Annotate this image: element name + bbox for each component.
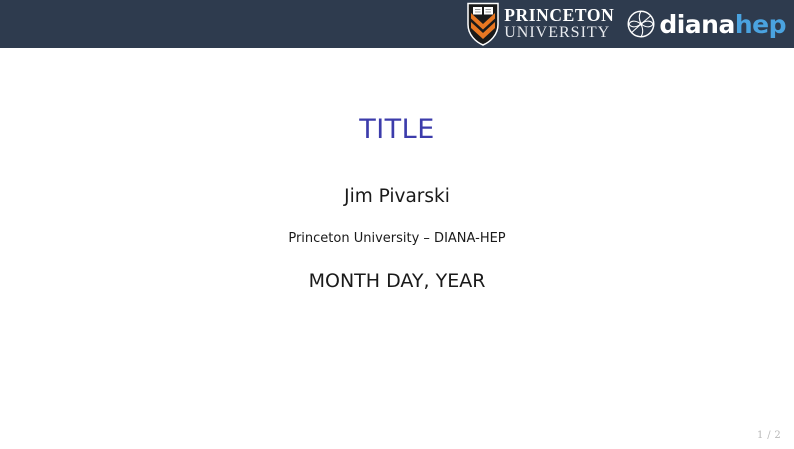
page-title: TITLE bbox=[0, 115, 794, 145]
slide-header-bar: PRINCETON UNIVERSITY bbox=[0, 0, 794, 48]
dianahep-word-hep: hep bbox=[735, 12, 786, 37]
presentation-slide: PRINCETON UNIVERSITY bbox=[0, 0, 794, 449]
author-name: Jim Pivarski bbox=[0, 187, 794, 207]
princeton-wordmark-line2: UNIVERSITY bbox=[504, 25, 614, 41]
presentation-date: MONTH DAY, YEAR bbox=[0, 271, 794, 292]
dianahep-word-diana: diana bbox=[659, 12, 735, 37]
book-glyph bbox=[473, 7, 493, 15]
slide-title-block: TITLE Jim Pivarski Princeton University … bbox=[0, 48, 794, 292]
princeton-shield-icon bbox=[467, 2, 499, 46]
princeton-wordmark: PRINCETON UNIVERSITY bbox=[504, 7, 614, 42]
header-logo-group: PRINCETON UNIVERSITY bbox=[467, 1, 786, 47]
dianahep-logo: dianahep bbox=[626, 1, 786, 47]
collision-detector-icon bbox=[626, 9, 656, 39]
affiliation-line: Princeton University – DIANA-HEP bbox=[0, 232, 794, 246]
page-number-indicator: 1 / 2 bbox=[757, 430, 781, 441]
dianahep-wordmark: dianahep bbox=[659, 12, 786, 37]
princeton-wordmark-line1: PRINCETON bbox=[504, 7, 614, 25]
princeton-university-logo: PRINCETON UNIVERSITY bbox=[467, 1, 614, 47]
